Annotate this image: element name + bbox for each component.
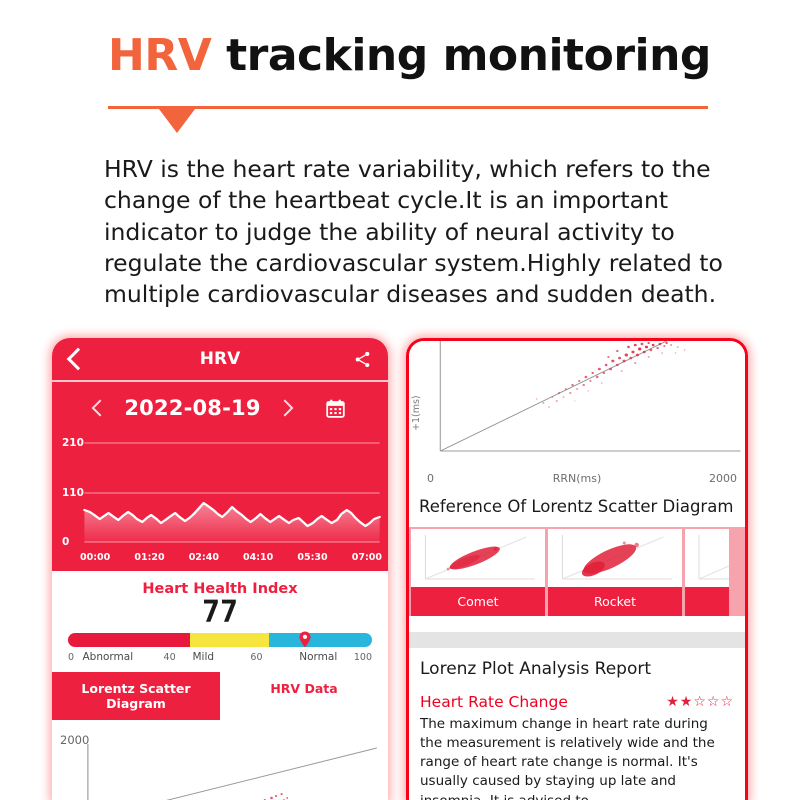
scale-label-abnormal: Abnormal bbox=[82, 651, 163, 663]
white-spacer bbox=[409, 616, 745, 632]
reference-thumb-comet bbox=[411, 529, 545, 587]
reference-thumb-partial bbox=[685, 529, 729, 587]
bar-segment-abnormal bbox=[68, 633, 190, 647]
left-phone-screenshot: HRV 2022-08-19 bbox=[52, 338, 388, 800]
hrv-line-chart-svg bbox=[56, 434, 384, 554]
tab-hrv-data[interactable]: HRV Data bbox=[220, 672, 388, 720]
grey-separator bbox=[409, 632, 745, 648]
scale-label-40: 40 bbox=[164, 652, 193, 663]
selected-date: 2022-08-19 bbox=[124, 396, 260, 420]
calendar-icon[interactable] bbox=[325, 398, 346, 419]
diagram-tabs: Lorentz Scatter Diagram HRV Data bbox=[52, 672, 388, 720]
page-title: HRV tracking monitoring bbox=[108, 34, 800, 78]
location-pin-icon bbox=[299, 631, 311, 652]
reference-card-partial[interactable] bbox=[685, 529, 729, 616]
page-title-rest: tracking monitoring bbox=[211, 30, 711, 81]
report-section-title: Heart Rate Change bbox=[420, 693, 568, 711]
scale-label-100: 100 bbox=[337, 652, 372, 663]
reference-caption-comet: Comet bbox=[411, 587, 545, 616]
reference-card-rocket[interactable]: Rocket bbox=[548, 529, 682, 616]
app-bar-title: HRV bbox=[52, 349, 388, 369]
date-navigation: 2022-08-19 bbox=[52, 382, 388, 434]
reference-cards: Comet Rocket bbox=[409, 527, 745, 616]
y-axis-label-110: 110 bbox=[62, 487, 84, 499]
heart-health-index-scale: 0 Abnormal 40 Mild 60 Normal 100 bbox=[68, 651, 372, 663]
chevron-left-icon[interactable] bbox=[92, 400, 109, 417]
scale-label-60: 60 bbox=[250, 652, 279, 663]
hrv-line-chart: 210 110 0 bbox=[56, 434, 384, 554]
page-title-accent: HRV bbox=[108, 30, 211, 81]
tab-lorentz-scatter-diagram[interactable]: Lorentz Scatter Diagram bbox=[52, 672, 220, 720]
analysis-report: Lorenz Plot Analysis Report Heart Rate C… bbox=[409, 648, 745, 800]
y-axis-label-0: 0 bbox=[62, 536, 69, 548]
bar-segment-normal bbox=[269, 633, 372, 647]
lorentz-scatter-chart: +1(ms) bbox=[409, 341, 745, 471]
heart-health-index-card: Heart Health Index 77 0 Abnormal 40 Mild bbox=[52, 571, 388, 672]
heart-health-index-value: 77 bbox=[68, 597, 372, 629]
bar-segment-mild bbox=[190, 633, 269, 647]
share-icon[interactable] bbox=[353, 350, 372, 369]
right-phone-screenshot: +1(ms) bbox=[406, 338, 748, 800]
scatter-y-max-label: 2000 bbox=[60, 733, 89, 747]
report-title: Lorenz Plot Analysis Report bbox=[420, 659, 734, 679]
y-axis-label-210: 210 bbox=[62, 437, 84, 449]
reference-caption-rocket: Rocket bbox=[548, 587, 682, 616]
scatter-x-axis-label: RRN(ms) bbox=[409, 472, 745, 485]
intro-paragraph: HRV is the heart rate variability, which… bbox=[0, 154, 800, 310]
lorentz-scatter-preview-svg bbox=[52, 720, 388, 800]
report-section-header: Heart Rate Change ★★☆☆☆ bbox=[420, 693, 734, 711]
scatter-x-axis: 0 RRN(ms) 2000 bbox=[409, 471, 745, 485]
page-header: HRV tracking monitoring bbox=[0, 0, 800, 78]
divider-line bbox=[108, 106, 708, 109]
scale-label-0: 0 bbox=[68, 652, 82, 663]
scale-label-mild: Mild bbox=[193, 651, 251, 663]
scale-label-normal: Normal bbox=[279, 651, 337, 663]
lorentz-scatter-preview: 2000 bbox=[52, 720, 388, 800]
reference-section-title: Reference Of Lorentz Scatter Diagram bbox=[409, 485, 745, 527]
scatter-y-axis-label: +1(ms) bbox=[411, 345, 422, 431]
chevron-right-icon[interactable] bbox=[276, 400, 293, 417]
divider-arrow-icon bbox=[159, 109, 195, 133]
divider bbox=[0, 106, 800, 132]
star-rating: ★★☆☆☆ bbox=[666, 694, 734, 710]
app-bar: HRV bbox=[52, 338, 388, 382]
report-body-text: The maximum change in heart rate during … bbox=[420, 715, 734, 800]
reference-caption-partial bbox=[685, 587, 729, 616]
back-chevron-icon[interactable] bbox=[67, 348, 90, 371]
heart-health-index-bar bbox=[68, 633, 372, 647]
screenshots-row: HRV 2022-08-19 bbox=[0, 338, 800, 800]
lorentz-scatter-chart-svg bbox=[409, 341, 745, 471]
reference-card-comet[interactable]: Comet bbox=[411, 529, 545, 616]
reference-thumb-rocket bbox=[548, 529, 682, 587]
